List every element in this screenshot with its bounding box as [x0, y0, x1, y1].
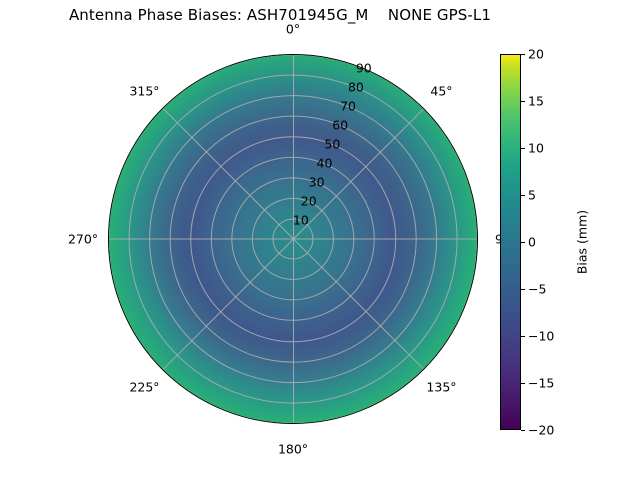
radial-tick-label-80: 80: [348, 80, 364, 95]
angular-tick-label-45: 45°: [430, 83, 452, 98]
colorbar-tick-10: [521, 148, 525, 149]
radial-tick-label-30: 30: [309, 175, 325, 190]
radial-tick-label-90: 90: [356, 61, 372, 76]
colorbar-tick-20: [521, 54, 525, 55]
polar-axes[interactable]: 102030405060708090: [108, 54, 478, 424]
angular-tick-label-180: 180°: [278, 442, 308, 457]
colorbar-tick-label-10: 10: [528, 141, 544, 156]
radial-tick-label-70: 70: [340, 99, 356, 114]
colorbar-tick-15: [521, 101, 525, 102]
colorbar-axis-label: Bias (mm): [575, 210, 590, 274]
colorbar-tick--15: [521, 383, 525, 384]
grid-spoke-180: [293, 239, 294, 423]
colorbar-tick--10: [521, 336, 525, 337]
angular-tick-label-135: 135°: [426, 380, 456, 395]
angular-tick-label-315: 315°: [129, 83, 159, 98]
grid-spoke-90: [109, 239, 294, 240]
colorbar-tick-label-15: 15: [528, 94, 544, 109]
colorbar-tick-0: [521, 242, 525, 243]
colorbar-tick-label--20: −20: [528, 423, 554, 438]
colorbar-tick-label-5: 5: [528, 188, 536, 203]
colorbar-gradient: [500, 54, 521, 430]
grid-spoke-270: [294, 239, 478, 240]
polar-bias-figure: Antenna Phase Biases: ASH701945G_M NONE …: [0, 0, 640, 480]
radial-tick-label-40: 40: [317, 156, 333, 171]
page-title: Antenna Phase Biases: ASH701945G_M NONE …: [0, 6, 560, 24]
radial-tick-label-20: 20: [301, 194, 317, 209]
polar-grid: [109, 55, 477, 423]
colorbar-tick-label-0: 0: [528, 235, 536, 250]
colorbar-tick-label--10: −10: [528, 329, 554, 344]
grid-spoke-0: [293, 55, 294, 239]
colorbar-tick--5: [521, 289, 525, 290]
colorbar-tick-5: [521, 195, 525, 196]
angular-tick-label-0: 0°: [286, 22, 300, 37]
colorbar[interactable]: −20−15−10−505101520: [500, 54, 521, 430]
radial-tick-label-50: 50: [324, 137, 340, 152]
radial-tick-label-60: 60: [332, 118, 348, 133]
angular-tick-label-225: 225°: [129, 380, 159, 395]
polar-data-surface: [108, 54, 478, 424]
radial-tick-label-10: 10: [293, 213, 309, 228]
colorbar-tick-label--15: −15: [528, 376, 554, 391]
colorbar-tick-label-20: 20: [528, 47, 544, 62]
colorbar-tick--20: [521, 430, 525, 431]
angular-tick-label-270: 270°: [68, 232, 98, 247]
colorbar-tick-label--5: −5: [528, 282, 546, 297]
